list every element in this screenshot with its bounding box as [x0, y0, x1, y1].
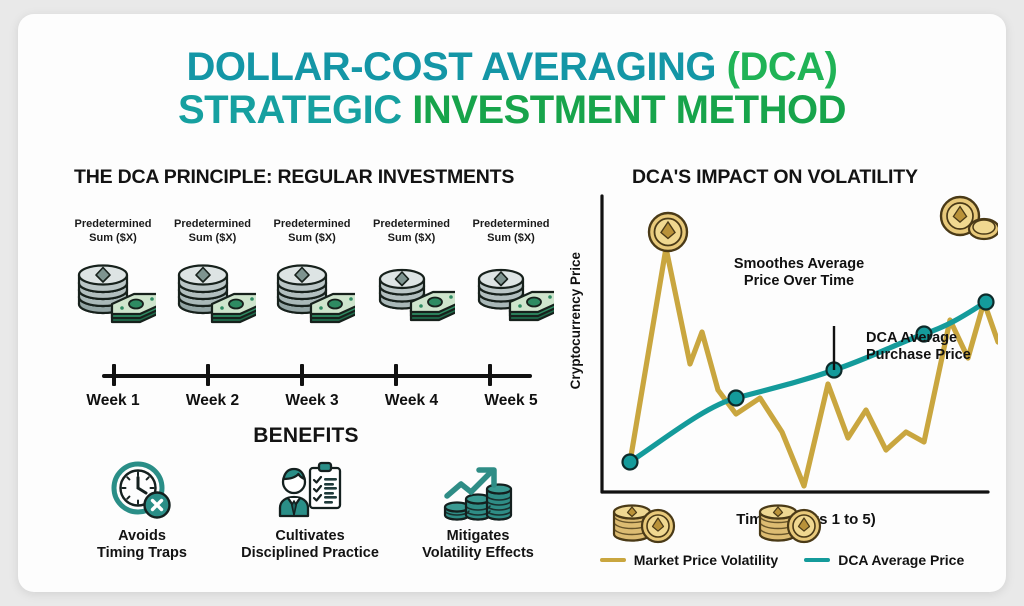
contribution-label: Predetermined Sum ($X)	[373, 218, 450, 248]
annotation-smoothes-average: Smoothes Average Price Over Time	[714, 256, 884, 291]
timeline-axis-line	[102, 374, 532, 378]
eth-coin-stack-icon	[760, 506, 820, 543]
eth-coin-pair-icon	[941, 197, 998, 239]
eth-coin-icon	[649, 213, 687, 251]
eth-coin-stack-icon	[614, 506, 674, 543]
contribution-col-1: Predetermined Sum ($X)	[66, 218, 160, 329]
benefit-avoids-timing-traps: Avoids Timing Traps	[58, 458, 226, 563]
title-line1-part1: DOLLAR-COST AVERAGING	[187, 45, 727, 89]
contribution-col-5: Predetermined Sum ($X)	[464, 218, 558, 329]
timeline-label: Week 3	[265, 392, 359, 410]
annotation-dca-average-purchase-price: DCA Average Purchase Price	[866, 330, 1006, 365]
title-line-2: STRATEGIC INVESTMENT METHOD	[18, 89, 1006, 132]
legend-label: Market Price Volatility	[634, 552, 778, 568]
contribution-label: Predetermined Sum ($X)	[174, 218, 251, 248]
benefit-mitigates-volatility-effects: Mitigates Volatility Effects	[394, 458, 562, 563]
timeline-tick	[488, 364, 492, 386]
legend-item-market-volatility: Market Price Volatility	[600, 552, 778, 568]
legend-swatch-gold	[600, 558, 626, 562]
coins-and-cash-icon	[70, 254, 156, 329]
contribution-col-4: Predetermined Sum ($X)	[365, 218, 459, 329]
contribution-label: Predetermined Sum ($X)	[74, 218, 151, 248]
volatility-chart: Cryptocurrency Price Time (Weeks 1 to 5)	[566, 192, 998, 544]
contribution-col-2: Predetermined Sum ($X)	[166, 218, 260, 329]
timeline-tick	[206, 364, 210, 386]
clock-x-icon	[109, 458, 175, 524]
legend-label: DCA Average Price	[838, 552, 964, 568]
growth-coins-icon	[441, 458, 515, 524]
title-line1-part2: (DCA)	[727, 45, 838, 89]
chart-plot	[566, 192, 998, 544]
benefit-label: Mitigates Volatility Effects	[422, 528, 534, 563]
infographic-card: DOLLAR-COST AVERAGING (DCA) STRATEGIC IN…	[18, 14, 1006, 592]
timeline-labels: Week 1 Week 2 Week 3 Week 4 Week 5	[66, 392, 558, 410]
page-background: DOLLAR-COST AVERAGING (DCA) STRATEGIC IN…	[0, 0, 1024, 606]
contribution-label: Predetermined Sum ($X)	[273, 218, 350, 248]
benefits-heading: BENEFITS	[18, 424, 594, 448]
title-line2-part2: INVESTMENT METHOD	[412, 88, 846, 132]
timeline-tick	[112, 364, 116, 386]
timeline-label: Week 2	[166, 392, 260, 410]
timeline-tick	[300, 364, 304, 386]
title-line2-part1: STRATEGIC	[178, 88, 412, 132]
contribution-label: Predetermined Sum ($X)	[472, 218, 549, 248]
benefit-label: Cultivates Disciplined Practice	[241, 528, 379, 563]
coins-and-cash-icon	[369, 254, 455, 329]
coins-and-cash-icon	[468, 254, 554, 329]
right-section-heading: DCA'S IMPACT ON VOLATILITY	[632, 166, 918, 189]
legend-item-dca-average: DCA Average Price	[804, 552, 964, 568]
benefit-label: Avoids Timing Traps	[97, 528, 187, 563]
page-title: DOLLAR-COST AVERAGING (DCA) STRATEGIC IN…	[18, 46, 1006, 132]
contribution-col-3: Predetermined Sum ($X)	[265, 218, 359, 329]
timeline-label: Week 1	[66, 392, 160, 410]
coins-and-cash-icon	[269, 254, 355, 329]
timeline-label: Week 5	[464, 392, 558, 410]
benefit-cultivates-disciplined-practice: Cultivates Disciplined Practice	[226, 458, 394, 563]
title-line-1: DOLLAR-COST AVERAGING (DCA)	[18, 46, 1006, 89]
benefits-row: Avoids Timing Traps	[58, 458, 562, 563]
chart-legend: Market Price Volatility DCA Average Pric…	[566, 552, 998, 568]
left-section-heading: THE DCA PRINCIPLE: REGULAR INVESTMENTS	[74, 166, 514, 189]
person-checklist-icon	[274, 458, 346, 524]
timeline: Week 1 Week 2 Week 3 Week 4 Week 5	[66, 358, 558, 418]
legend-swatch-teal	[804, 558, 830, 562]
timeline-tick	[394, 364, 398, 386]
contributions-row: Predetermined Sum ($X)	[66, 218, 558, 329]
timeline-label: Week 4	[365, 392, 459, 410]
coins-and-cash-icon	[170, 254, 256, 329]
